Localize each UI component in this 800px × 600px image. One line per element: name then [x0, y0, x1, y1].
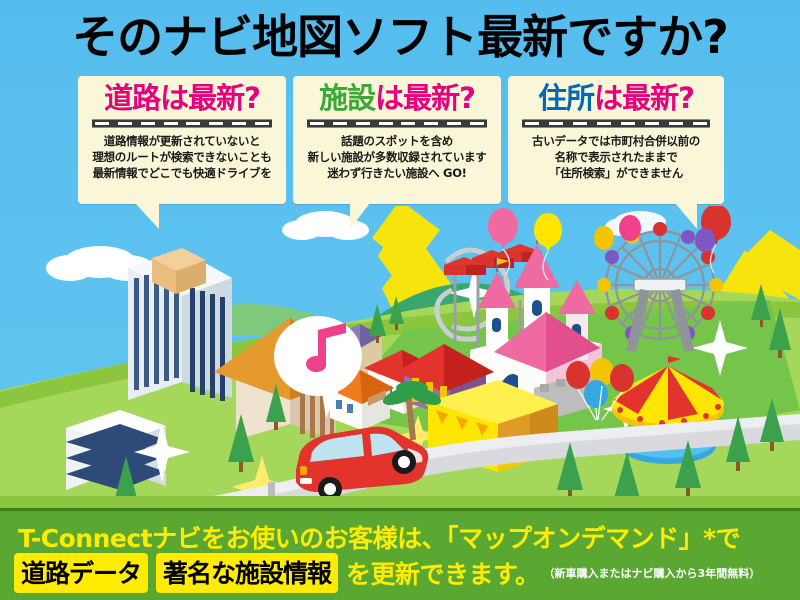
card-body-facilities: 話題のスポットを含め 新しい施設が多数収録されています 迷わず行きたい施設へ G… — [299, 133, 495, 181]
card-title-prefix: 道路 — [104, 81, 160, 115]
info-card-addresses: 住所は最新? 古いデータでは市町村合併以前の 名称で表示されたままで 「住所検索… — [508, 76, 724, 204]
banner-tail-text: を更新できます。 — [346, 555, 540, 591]
speech-tail-addresses — [675, 203, 697, 229]
chip-road-data: 道路データ — [14, 553, 148, 593]
card-title-roads: 道路は最新? — [84, 80, 280, 116]
road-divider-icon — [307, 119, 487, 128]
card-line: 話題のスポットを含め — [299, 133, 495, 149]
card-line: 理想のルートが検索できないことも — [84, 149, 280, 165]
info-card-roads: 道路は最新? 道路情報が更新されていないと 理想のルートが検索できないことも 最… — [78, 76, 286, 204]
banner-subline: 道路データ 著名な施設情報 を更新できます。 （新車購入またはナビ購入から3年間… — [14, 553, 760, 593]
card-title-suffix: は最新? — [594, 81, 694, 115]
card-title-facilities: 施設は最新? — [299, 80, 495, 116]
card-title-prefix: 住所 — [538, 81, 594, 115]
balloon — [594, 226, 614, 250]
chip-facility-info: 著名な施設情報 — [156, 553, 338, 593]
card-body-roads: 道路情報が更新されていないと 理想のルートが検索できないことも 最新情報でどこで… — [84, 133, 280, 181]
bottom-banner: T-Connectナビをお使いのお客様は、「マップオンデマンド」*で 道路データ… — [0, 508, 800, 600]
card-title-suffix: は最新? — [375, 81, 475, 115]
road-divider-icon — [522, 119, 710, 128]
card-line: 道路情報が更新されていないと — [84, 133, 280, 149]
banner-headline: T-Connectナビをお使いのお客様は、「マップオンデマンド」*で — [18, 519, 740, 555]
road-divider-icon — [92, 119, 272, 128]
balloon — [619, 215, 641, 241]
card-title-prefix: 施設 — [319, 81, 375, 115]
card-line: 「住所検索」ができません — [514, 165, 718, 181]
office-tower — [128, 248, 232, 401]
card-line: 新しい施設が多数収録されています — [299, 149, 495, 165]
card-title-suffix: は最新? — [160, 81, 260, 115]
info-card-facilities: 施設は最新? 話題のスポットを含め 新しい施設が多数収録されています 迷わず行き… — [293, 76, 501, 204]
page-title: そのナビ地図ソフト最新ですか? — [0, 8, 800, 66]
speech-tail-roads — [135, 203, 159, 229]
poster-canvas: そのナビ地図ソフト最新ですか? 道路は最新? 道路情報が更新されていないと 理想… — [0, 0, 800, 600]
balloon — [695, 228, 715, 252]
card-title-addresses: 住所は最新? — [514, 80, 718, 116]
card-line: 迷わず行きたい施設へ GO! — [299, 165, 495, 181]
speech-tail-facilities — [350, 203, 370, 229]
banner-fineprint: （新車購入またはナビ購入から3年間無料） — [544, 565, 761, 581]
card-line: 名称で表示されたままで — [514, 149, 718, 165]
card-body-addresses: 古いデータでは市町村合併以前の 名称で表示されたままで 「住所検索」ができません — [514, 133, 718, 181]
card-line: 古いデータでは市町村合併以前の — [514, 133, 718, 149]
card-line: 最新情報でどこでも快適ドライブを — [84, 165, 280, 181]
